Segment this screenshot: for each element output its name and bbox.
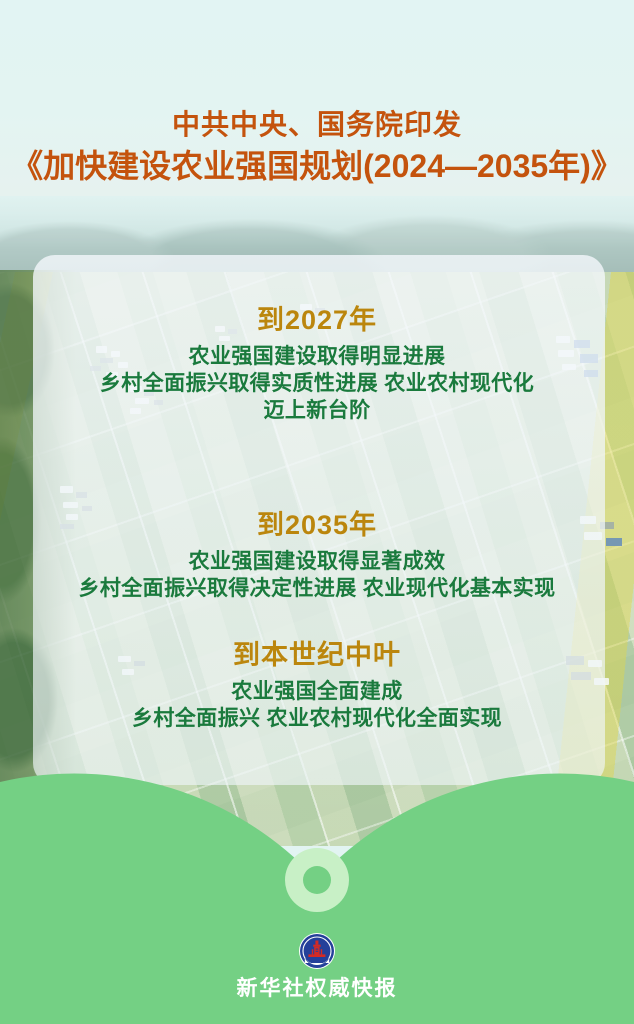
- page-title-line-1: 中共中央、国务院印发: [0, 108, 634, 142]
- page-title-line-2: 《加快建设农业强国规划(2024—2035年)》: [0, 146, 634, 186]
- header-banner: 中共中央、国务院印发 《加快建设农业强国规划(2024—2035年)》: [0, 0, 634, 196]
- footer-brand-text: 新华社权威快报: [0, 975, 634, 1003]
- poster-root: 中共中央、国务院印发 《加快建设农业强国规划(2024—2035年)》 到202…: [0, 0, 634, 1024]
- xinhua-news-agency-logo-icon: [298, 932, 336, 970]
- decorative-ring-icon: [285, 848, 349, 912]
- decorative-ring-hole: [303, 866, 331, 894]
